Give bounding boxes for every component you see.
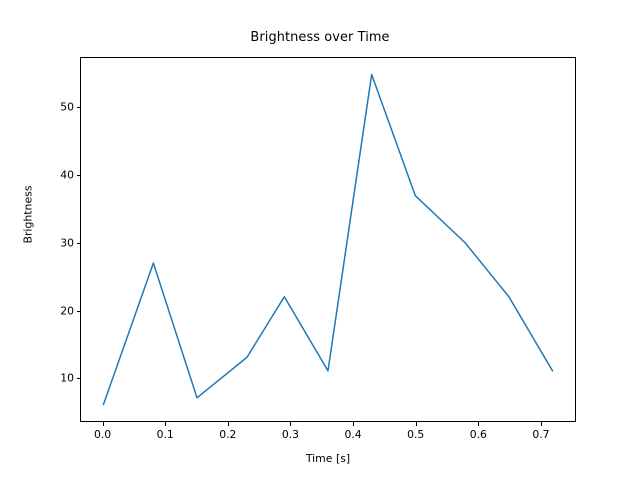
x-tick-mark (290, 422, 291, 426)
x-tick-label: 0.4 (344, 428, 361, 441)
y-tick-mark (77, 378, 81, 379)
plot-area (80, 57, 576, 422)
x-tick-label: 0.0 (94, 428, 111, 441)
y-tick-label: 30 (34, 236, 74, 249)
x-tick-mark (541, 422, 542, 426)
x-tick-mark (228, 422, 229, 426)
x-tick-label: 0.7 (532, 428, 549, 441)
x-tick-mark (478, 422, 479, 426)
y-axis-label: Brightness (22, 155, 35, 275)
y-tick-mark (77, 175, 81, 176)
page-title: Brightness over Time (0, 30, 640, 45)
x-tick-label: 0.3 (282, 428, 299, 441)
line-series-brightness (81, 58, 575, 421)
x-tick-mark (165, 422, 166, 426)
figure-canvas: Brightness over Time 0.00.10.20.30.40.50… (0, 0, 640, 480)
y-tick-label: 50 (34, 101, 74, 114)
x-tick-label: 0.5 (407, 428, 424, 441)
series-polyline (103, 74, 552, 404)
x-tick-mark (103, 422, 104, 426)
y-tick-mark (77, 311, 81, 312)
y-tick-label: 20 (34, 304, 74, 317)
x-tick-label: 0.2 (219, 428, 236, 441)
x-tick-mark (353, 422, 354, 426)
x-axis-label: Time [s] (80, 452, 576, 465)
y-tick-label: 10 (34, 372, 74, 385)
x-tick-label: 0.1 (157, 428, 174, 441)
x-tick-label: 0.6 (470, 428, 487, 441)
y-tick-mark (77, 243, 81, 244)
y-tick-mark (77, 107, 81, 108)
y-tick-label: 40 (34, 169, 74, 182)
x-tick-mark (416, 422, 417, 426)
